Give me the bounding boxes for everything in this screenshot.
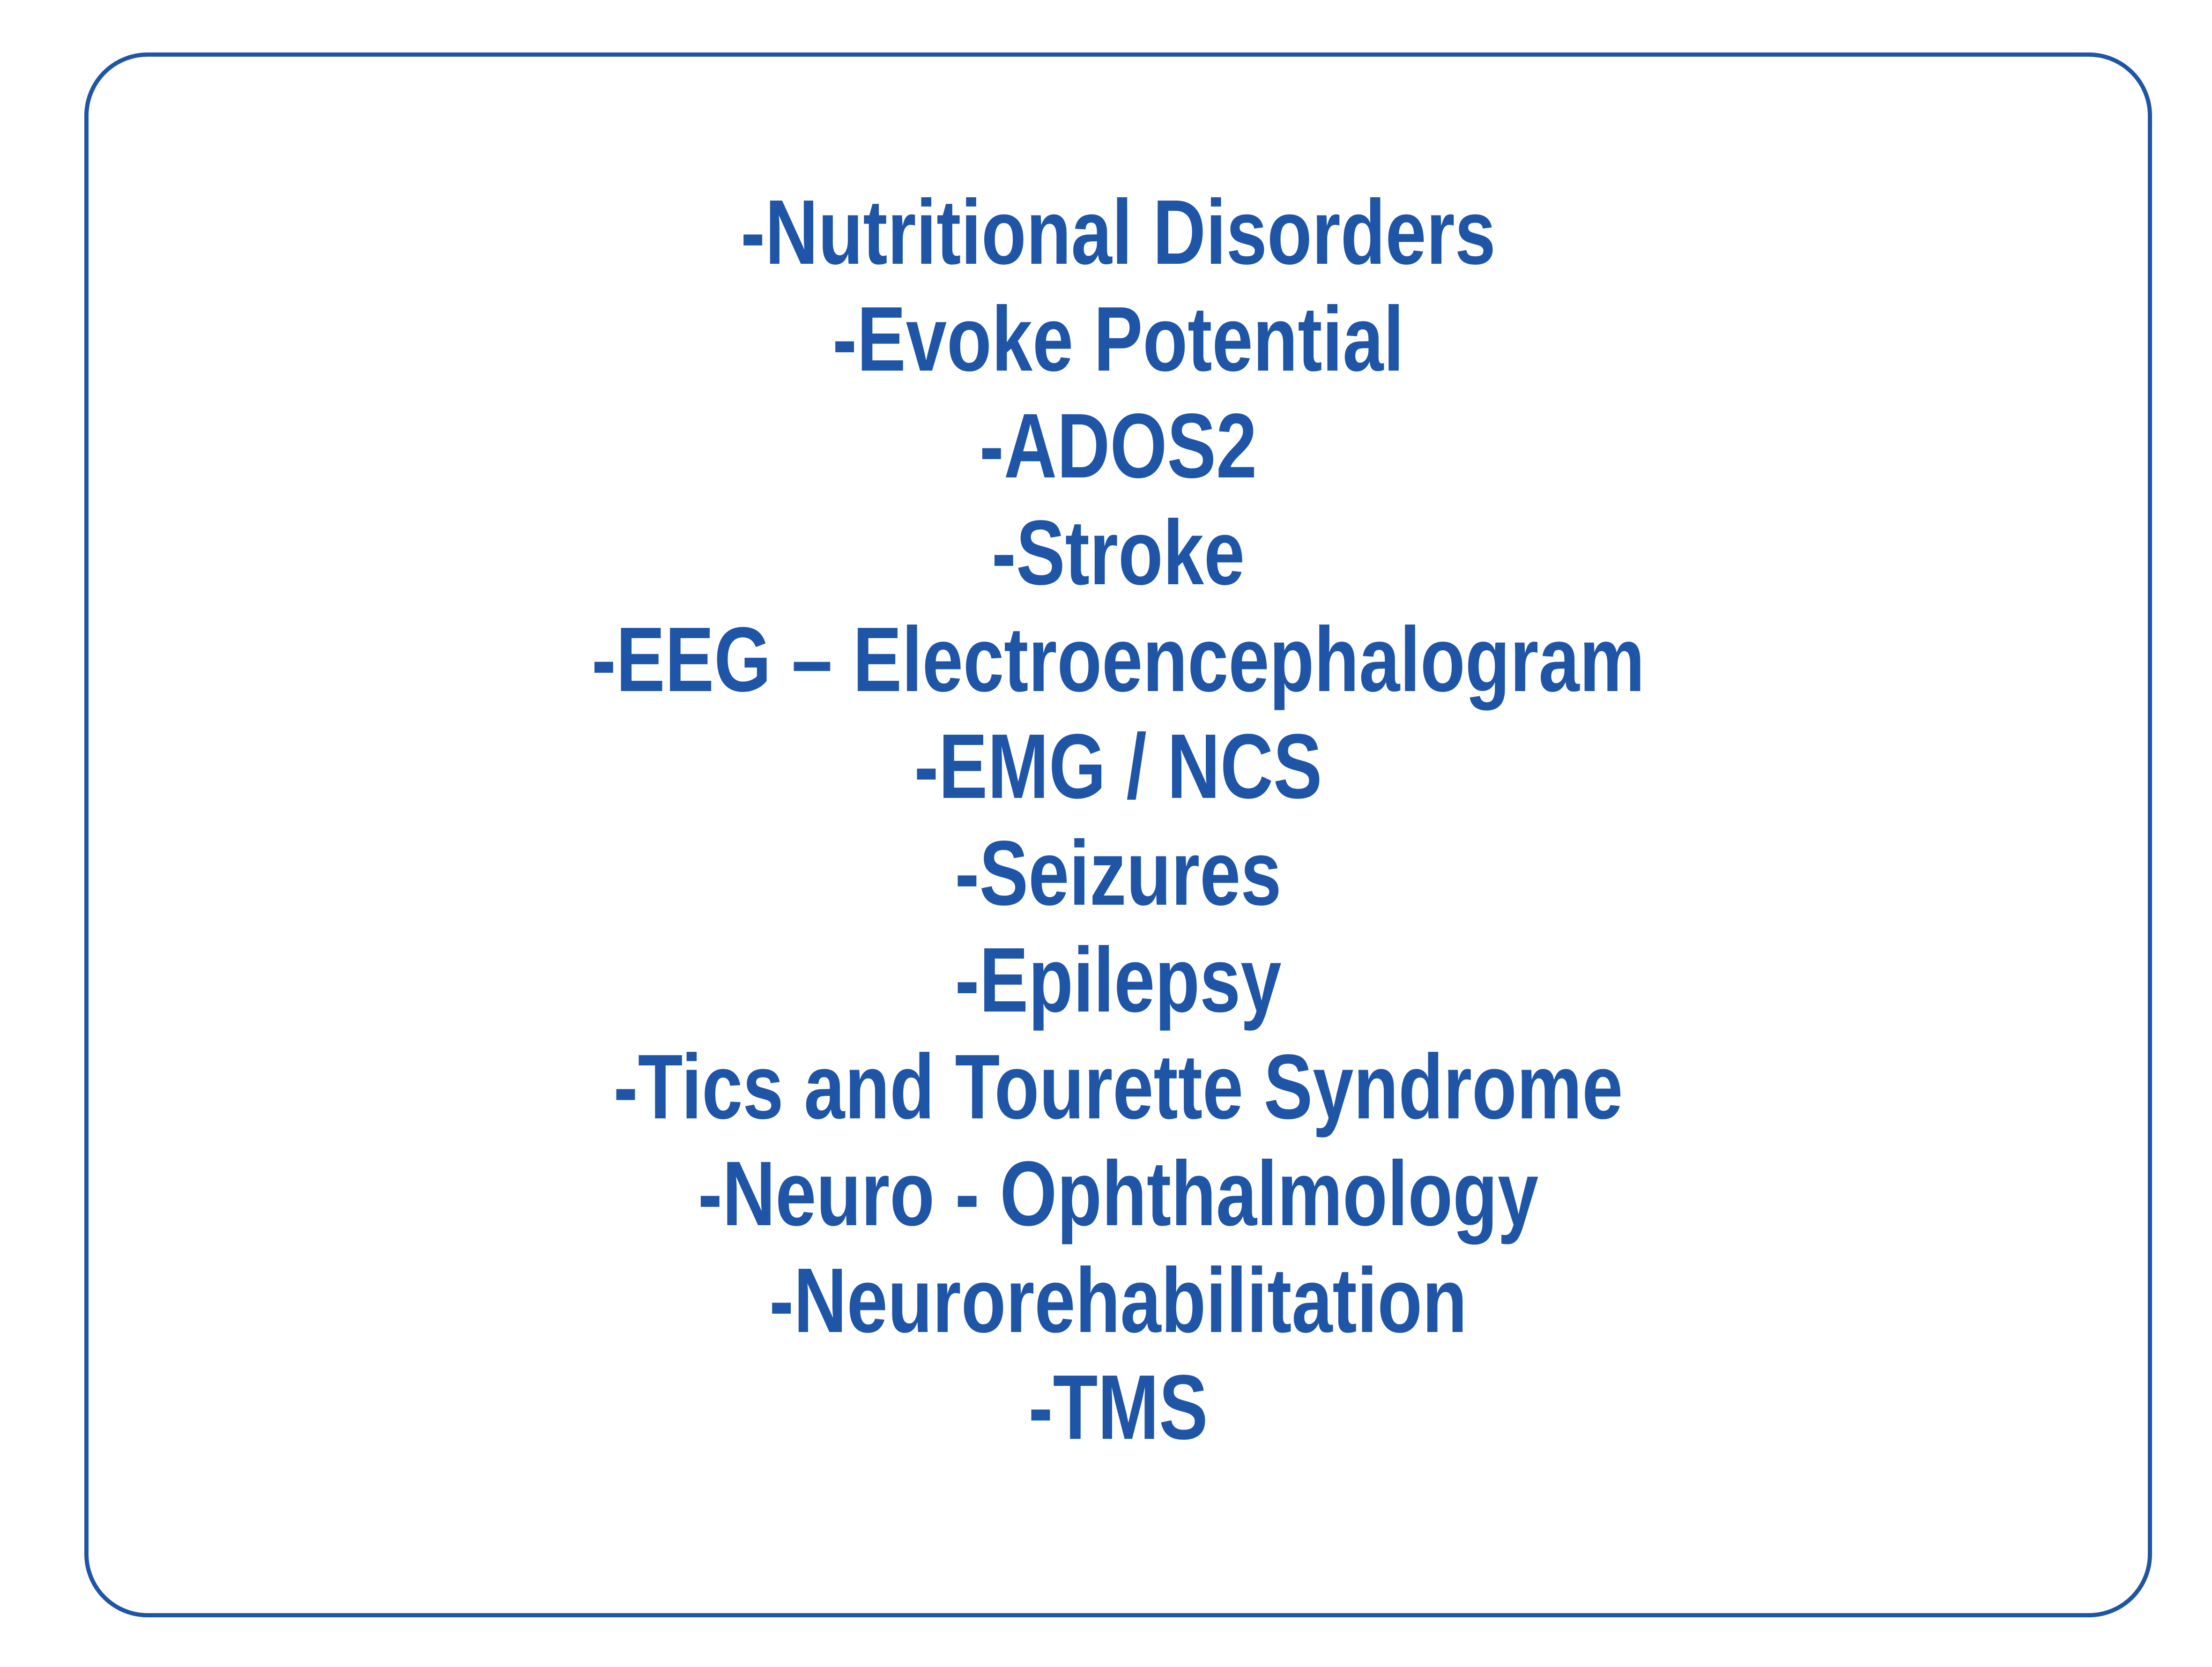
list-item: -EMG / NCS [291,713,1945,820]
list-item: -Nutritional Disorders [291,179,1945,286]
list-item: -Seizures [291,820,1945,927]
list-item: -Epilepsy [291,927,1945,1034]
list-item: -ADOS2 [291,393,1945,499]
list-item: -Neurorehabilitation [291,1247,1945,1354]
list-item: -Evoke Potential [291,286,1945,393]
bulleted-topic-list: -Nutritional Disorders -Evoke Potential … [84,52,2152,1617]
list-item: -Tics and Tourette Syndrome [291,1034,1945,1140]
slide-canvas: -Nutritional Disorders -Evoke Potential … [0,0,2212,1667]
list-item: -TMS [291,1354,1945,1461]
list-item: -EEG – Electroencephalogram [291,606,1945,713]
list-item: -Stroke [291,499,1945,606]
list-item: -Neuro - Ophthalmology [291,1140,1945,1247]
